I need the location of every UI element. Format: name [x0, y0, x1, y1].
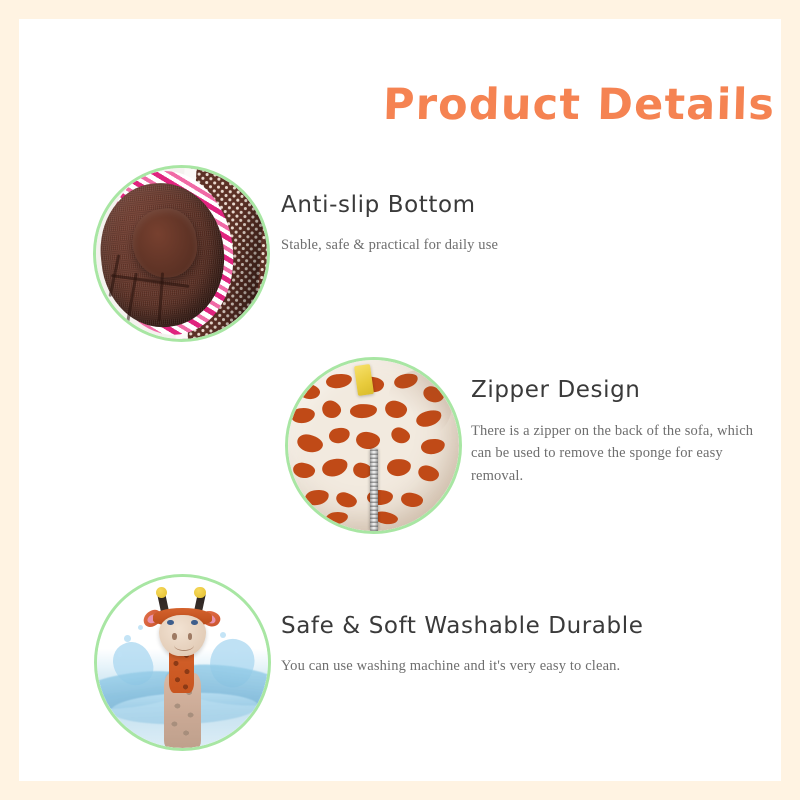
feature-heading: Zipper Design [471, 377, 761, 405]
feature-body: There is a zipper on the back of the sof… [471, 420, 761, 487]
feature-text-anti-slip-bottom: Anti-slip Bottom Stable, safe & practica… [281, 192, 581, 256]
zipper-strip [370, 449, 378, 531]
feature-image-anti-slip-bottom [93, 165, 270, 342]
water-droplet [118, 652, 122, 656]
page-frame: Product Details Anti [0, 0, 800, 800]
feature-image-safe-soft-washable-durable [94, 574, 271, 751]
feature-image-inner [97, 577, 268, 748]
giraffe-eye-left [167, 620, 174, 625]
zipper-teeth [370, 449, 378, 531]
feature-image-inner [96, 168, 267, 339]
giraffe-horn-tip-right [194, 587, 205, 598]
feature-body: You can use washing machine and it's ver… [281, 655, 681, 677]
feature-image-inner [288, 360, 459, 531]
page-title: Product Details [382, 83, 743, 128]
feature-body: Stable, safe & practical for daily use [281, 234, 581, 256]
feature-text-zipper-design: Zipper Design There is a zipper on the b… [471, 377, 761, 487]
feature-heading: Anti-slip Bottom [281, 192, 581, 220]
feature-image-zipper-design [285, 357, 462, 534]
water-droplet [220, 632, 226, 638]
giraffe-eye-right [191, 620, 198, 625]
fabric-seam-shading [387, 370, 452, 438]
feature-text-safe-soft-washable-durable: Safe & Soft Washable Durable You can use… [281, 613, 681, 677]
giraffe-smile [174, 639, 195, 651]
page-panel: Product Details Anti [19, 19, 781, 781]
feature-heading: Safe & Soft Washable Durable [281, 613, 681, 641]
